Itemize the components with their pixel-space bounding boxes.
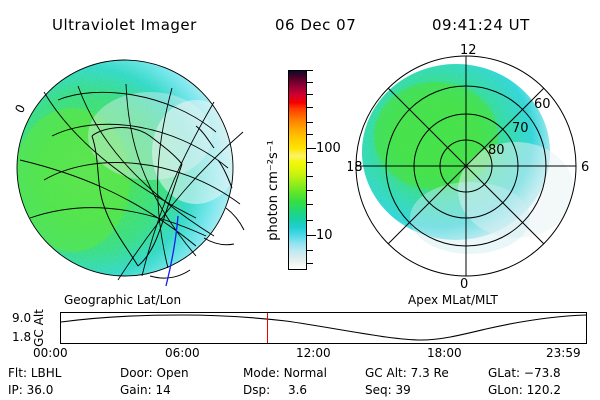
geographic-corner-label: 0 — [12, 102, 28, 115]
mlt-label-6: 6 — [581, 160, 589, 175]
status-mode: Mode: Normal — [243, 366, 327, 380]
observation-date: 06 Dec 07 — [275, 16, 356, 34]
timeline-xtick-0: 00:00 — [33, 346, 68, 360]
colorbar-tick-label-10: 10 — [316, 228, 333, 243]
mlt-label-0: 0 — [460, 277, 468, 290]
geographic-aurora-plot: 0 — [0, 40, 265, 290]
colorbar-tick-label-100: 100 — [316, 141, 341, 156]
mlt-label-18: 18 — [348, 160, 363, 175]
status-ip: IP: 36.0 — [8, 383, 53, 397]
status-door: Door: Open — [120, 366, 189, 380]
status-dsp: Dsp: 3.6 — [243, 383, 307, 397]
intensity-colorbar[interactable] — [288, 70, 307, 270]
status-flt: Flt: LBHL — [8, 366, 61, 380]
timeline-ytick-high: 9.0 — [12, 311, 31, 325]
apex-mlat-mlt-panel[interactable]: 12 6 0 18 60 70 80 — [348, 40, 600, 290]
colorbar-ticks — [307, 70, 314, 270]
apex-panel-title: Apex MLat/MLT — [408, 293, 498, 307]
orbit-altitude-timeline[interactable] — [60, 312, 587, 344]
colorbar-gradient — [288, 70, 307, 270]
header-bar: Ultraviolet Imager 06 Dec 07 09:41:24 UT — [0, 8, 600, 32]
timeline-time-cursor[interactable] — [267, 313, 268, 343]
status-seq: Seq: 39 — [365, 383, 411, 397]
geographic-panel-title: Geographic Lat/Lon — [64, 293, 181, 307]
orbit-altitude-curve — [61, 313, 586, 343]
timeline-xtick-4: 23:59 — [546, 346, 581, 360]
timeline-xtick-1: 06:00 — [165, 346, 200, 360]
observation-time: 09:41:24 UT — [432, 16, 530, 34]
mlat-label-80: 80 — [488, 143, 505, 158]
geographic-image-panel[interactable]: 0 — [0, 40, 265, 290]
aurora-emission-apex — [362, 64, 574, 254]
uvi-summary-screen: Ultraviolet Imager 06 Dec 07 09:41:24 UT — [0, 0, 600, 400]
instrument-title: Ultraviolet Imager — [52, 16, 197, 34]
timeline-ytick-low: 1.8 — [12, 330, 31, 344]
timeline-xtick-3: 18:00 — [427, 346, 462, 360]
status-glat: GLat: −73.8 — [488, 366, 561, 380]
mlat-label-60: 60 — [534, 97, 551, 112]
status-glon: GLon: 120.2 — [488, 383, 561, 397]
mlat-label-70: 70 — [512, 121, 529, 136]
apex-aurora-dial: 12 6 0 18 60 70 80 — [348, 40, 600, 290]
status-gc-alt: GC Alt: 7.3 Re — [365, 366, 449, 380]
status-gain: Gain: 14 — [120, 383, 171, 397]
mlt-spokes — [356, 56, 576, 276]
colorbar-axis-title: photon cm⁻²s⁻¹ — [264, 110, 282, 270]
timeline-xtick-2: 12:00 — [296, 346, 331, 360]
timeline-y-axis-label: GC Alt — [30, 306, 48, 350]
mlt-label-12: 12 — [460, 43, 477, 58]
